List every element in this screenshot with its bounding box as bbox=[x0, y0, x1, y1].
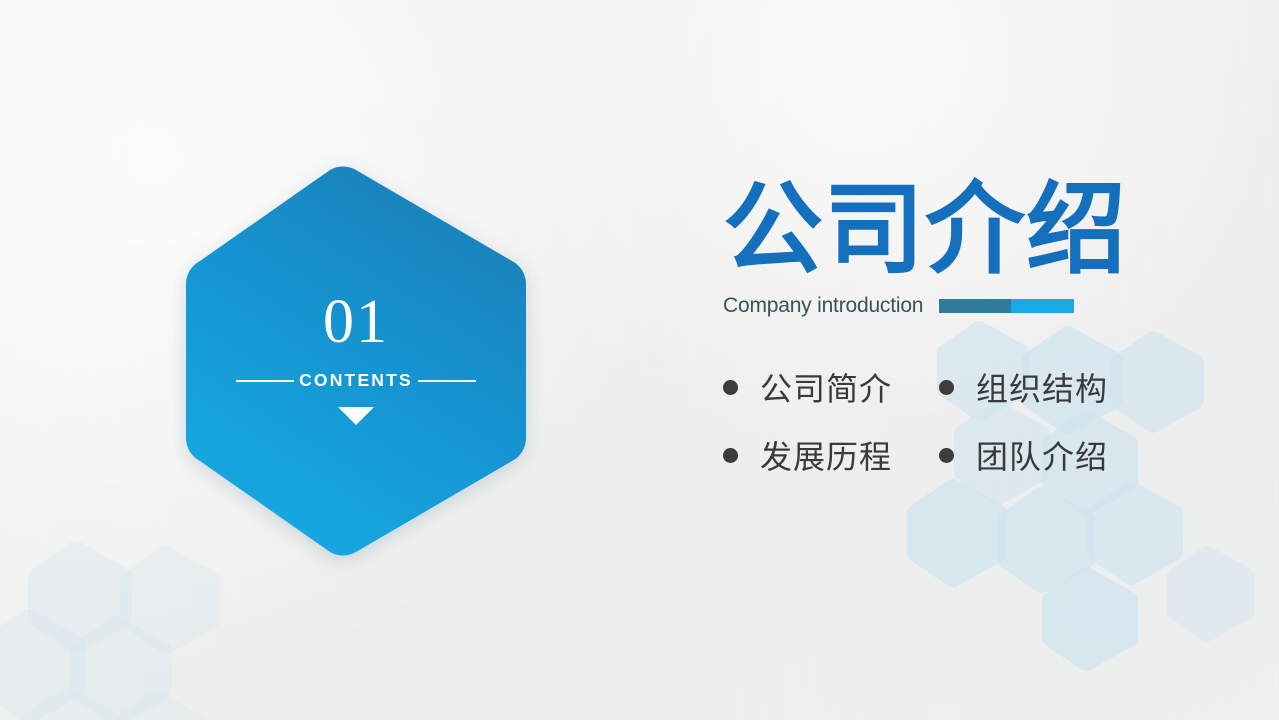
decorative-hexagon bbox=[18, 686, 122, 720]
accent-bar-segment-left bbox=[939, 299, 1011, 313]
decorative-hexagon bbox=[1040, 566, 1140, 677]
hexagon-shape-icon bbox=[118, 545, 222, 655]
rule-right bbox=[418, 380, 476, 382]
decorative-hexagon bbox=[0, 608, 88, 720]
bullet-dot-icon bbox=[939, 380, 954, 395]
rule-left bbox=[236, 380, 294, 382]
contents-hexagon-badge[interactable]: 01 CONTENTS bbox=[182, 166, 530, 556]
decorative-hexagon bbox=[26, 540, 134, 659]
slide-content: 公司介绍 Company introduction 公司简介 组织结构 发展历程 bbox=[723, 181, 1243, 478]
hexagon-shape-icon bbox=[0, 608, 88, 720]
page-title: 公司介绍 bbox=[723, 181, 1243, 279]
list-item-label: 团队介绍 bbox=[976, 432, 1108, 478]
triangle-down-icon bbox=[338, 407, 374, 425]
list-item[interactable]: 组织结构 bbox=[939, 364, 1155, 410]
hexagon-shape-icon bbox=[26, 540, 134, 654]
agenda-list: 公司简介 组织结构 发展历程 团队介绍 bbox=[723, 364, 1243, 478]
hexagon-shape-icon bbox=[1040, 566, 1140, 672]
subtitle-row: Company introduction bbox=[723, 294, 1243, 318]
list-item[interactable]: 公司简介 bbox=[723, 364, 939, 410]
decorative-hexagon bbox=[68, 615, 174, 720]
accent-bar-segment-right bbox=[1011, 299, 1074, 313]
list-item-label: 公司简介 bbox=[760, 364, 892, 410]
list-item[interactable]: 发展历程 bbox=[723, 432, 939, 478]
contents-label: CONTENTS bbox=[294, 370, 418, 391]
hexagon-shape-icon bbox=[110, 690, 210, 720]
contents-label-row: CONTENTS bbox=[236, 370, 476, 391]
decorative-hexagon bbox=[110, 690, 210, 720]
decorative-hexagon bbox=[995, 486, 1097, 599]
presentation-slide: 01 CONTENTS 公司介绍 Company introduction 公司… bbox=[0, 0, 1279, 720]
decorative-hexagon bbox=[118, 545, 222, 660]
decorative-hexagon bbox=[1085, 480, 1185, 591]
list-item-label: 组织结构 bbox=[976, 364, 1108, 410]
hexagon-shape-icon bbox=[995, 486, 1097, 594]
contents-number: 01 bbox=[323, 291, 389, 353]
page-subtitle: Company introduction bbox=[723, 294, 923, 318]
list-item-label: 发展历程 bbox=[760, 432, 892, 478]
hexagon-shape-icon bbox=[905, 478, 1009, 588]
hexagon-shape-icon bbox=[18, 686, 122, 720]
hexagon-shape-icon bbox=[1165, 545, 1257, 643]
bullet-dot-icon bbox=[723, 380, 738, 395]
hexagon-shape-icon bbox=[1085, 480, 1185, 586]
bullet-dot-icon bbox=[723, 448, 738, 463]
decorative-hexagon bbox=[1165, 545, 1257, 648]
list-item[interactable]: 团队介绍 bbox=[939, 432, 1155, 478]
accent-bar bbox=[939, 299, 1074, 313]
bullet-dot-icon bbox=[939, 448, 954, 463]
decorative-hexagon bbox=[905, 478, 1009, 593]
hexagon-shape-icon bbox=[68, 615, 174, 720]
